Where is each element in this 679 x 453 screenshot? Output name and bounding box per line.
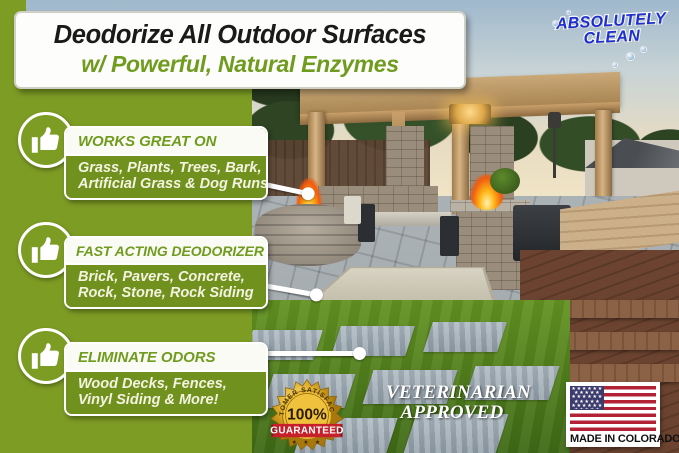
bubble-icon-3 [612,62,618,68]
seal-stars: ★ ★ ★ [292,439,323,446]
callout-body-line-1: Wood Decks, Fences, [78,376,258,392]
patio-chair-right [440,216,459,256]
pergola-post-right [595,110,612,196]
made-in-caption: MADE IN COLORADO [570,433,656,445]
callout-body-line-1: Grass, Plants, Trees, Bark, [78,160,258,176]
deck-step-3 [568,364,679,382]
callout-eliminate-odors: ELIMINATE ODORS Wood Decks, Fences, Viny… [64,342,268,416]
lamp-head [548,112,561,128]
callout-body: Wood Decks, Fences, Vinyl Siding & More! [66,370,266,414]
seal-banner: GUARANTEED [270,424,343,437]
product-marketing-image: Deodorize All Outdoor Surfaces w/ Powerf… [0,0,679,453]
vet-line-2: APPROVED [386,403,518,423]
seal-percent: 100% [287,406,327,423]
hanging-lantern [449,104,491,124]
headline-banner: Deodorize All Outdoor Surfaces w/ Powerf… [14,11,466,89]
us-flag-icon: ★★★★★★ ★★★★★ ★★★★★★ ★★★★★ ★★★★★★ ★★★★★ ★… [570,386,656,431]
callout-body-line-2: Rock, Stone, Rock Siding [78,285,258,301]
bubble-icon-5 [566,10,571,15]
satisfaction-guarantee-seal: CUSTOMER SATISFACTION 100% GUARANTEED ★ … [270,378,344,452]
bubble-icon-1 [626,52,635,61]
flag-canton: ★★★★★★ ★★★★★ ★★★★★★ ★★★★★ ★★★★★★ ★★★★★ ★… [570,386,604,410]
bubble-icon-4 [552,20,559,27]
callout-body: Grass, Plants, Trees, Bark, Artificial G… [66,154,266,198]
veterinarian-approved-badge: VETERINARIAN APPROVED [386,383,518,423]
callout-body-line-2: Artificial Grass & Dog Runs [78,176,258,192]
callout-works-great-on: WORKS GREAT ON Grass, Plants, Trees, Bar… [64,126,268,200]
callout-body-line-1: Brick, Pavers, Concrete, [78,269,258,285]
bar-stool [344,196,361,224]
made-in-colorado-badge: ★★★★★★ ★★★★★ ★★★★★★ ★★★★★ ★★★★★★ ★★★★★ ★… [566,382,660,447]
bubble-icon-2 [640,46,647,53]
headline-line-1: Deodorize All Outdoor Surfaces [54,22,426,49]
brand-logo: ABSOLUTELY CLEAN [555,11,670,69]
callout-fast-acting-deodorizer: FAST ACTING DEODORIZER Brick, Pavers, Co… [64,236,268,309]
flag-stars: ★★★★★★ ★★★★★ ★★★★★★ ★★★★★ ★★★★★★ ★★★★★ ★… [571,387,603,409]
seal-banner-text: GUARANTEED [270,426,343,437]
callout-heading: ELIMINATE ODORS [66,344,266,370]
deck-step-2 [552,332,679,350]
callout-body: Brick, Pavers, Concrete, Rock, Stone, Ro… [66,263,266,307]
callout-heading: FAST ACTING DEODORIZER [66,238,266,263]
stepping-paver-3 [423,322,507,352]
vet-line-1: VETERINARIAN [386,383,518,403]
shrub-planter [490,168,520,194]
callout-heading: WORKS GREAT ON [66,128,266,154]
headline-line-2: w/ Powerful, Natural Enzymes [81,51,399,77]
callout-body-line-2: Vinyl Siding & More! [78,392,258,408]
